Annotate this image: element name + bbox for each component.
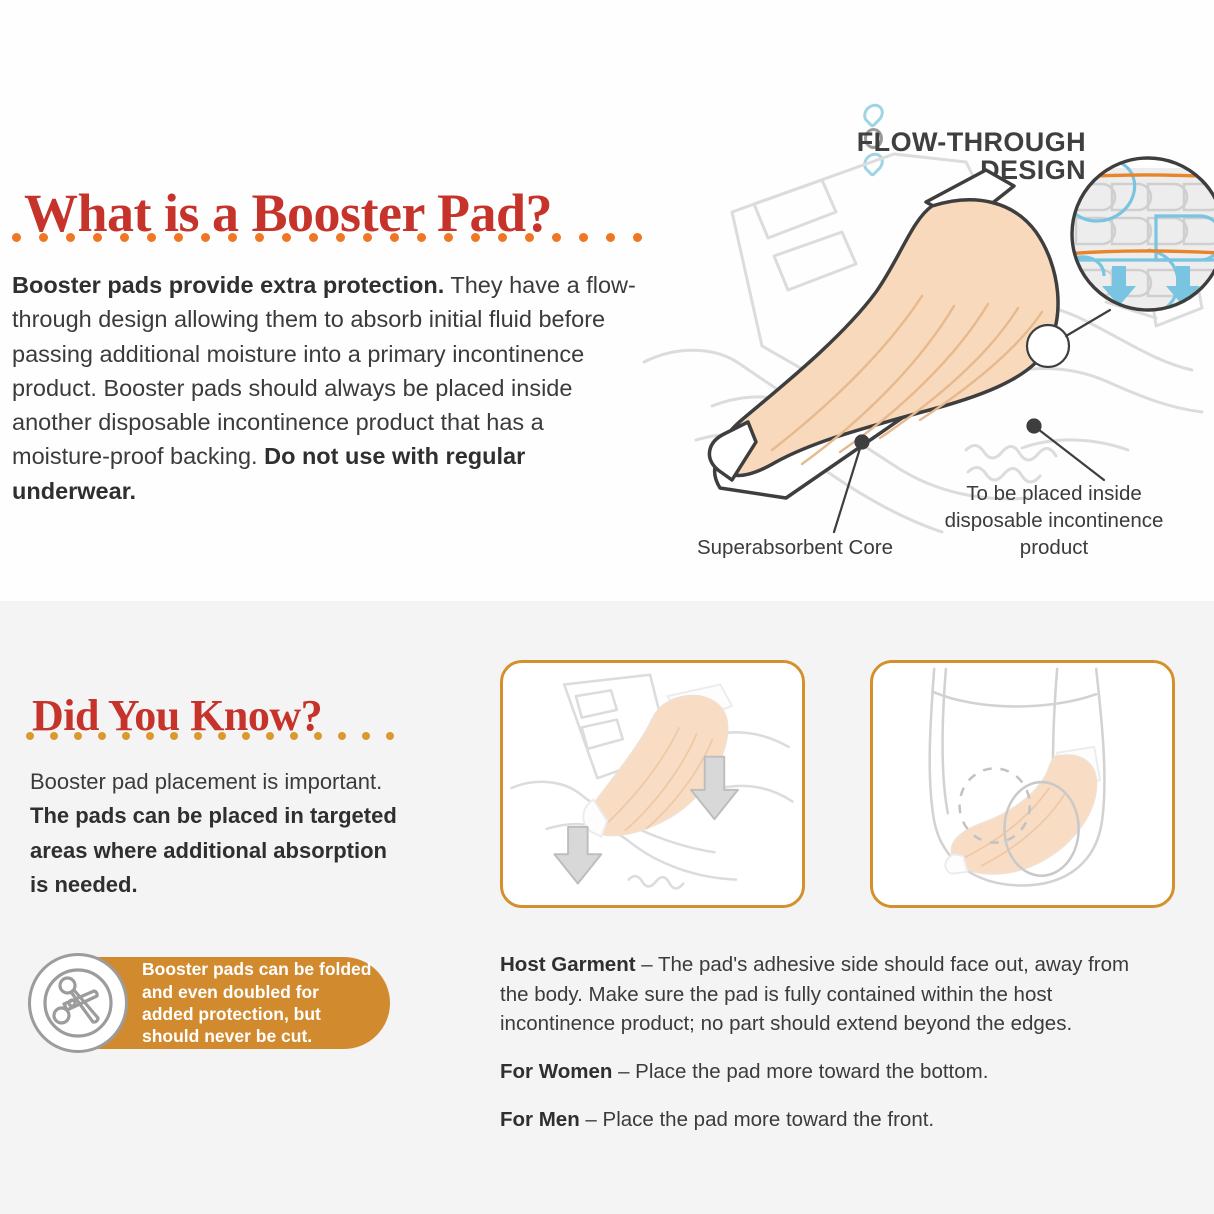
divider-dot [98, 732, 106, 740]
divider-dot [174, 233, 183, 242]
divider-dot [26, 732, 34, 740]
divider-dot [93, 233, 102, 242]
no-cutting-badge: Booster pads can be folded and even doub… [30, 957, 390, 1049]
section-what-is-a-booster-pad: What is a Booster Pad? Booster pads prov… [0, 0, 1214, 601]
divider-dot [390, 233, 399, 242]
divider-dot [122, 732, 130, 740]
divider-dot [147, 233, 156, 242]
divider-dot [201, 233, 210, 242]
divider-dot [498, 233, 507, 242]
divider-dot [120, 233, 129, 242]
instruction-dash: – [612, 1060, 635, 1083]
instruction-text: Place the pad more toward the bottom. [635, 1060, 988, 1083]
divider-dot [362, 732, 370, 740]
divider-dot [471, 233, 480, 242]
divider-dot [336, 233, 345, 242]
divider-dot [552, 233, 561, 242]
label-inside-disposable-product: To be placed inside disposable incontine… [930, 480, 1178, 561]
instruction-text: Place the pad more toward the front. [603, 1108, 935, 1131]
divider-dot [386, 732, 394, 740]
divider-dot [417, 233, 426, 242]
divider-dot [255, 233, 264, 242]
divider-dot [363, 233, 372, 242]
divider-dot [525, 233, 534, 242]
dot-divider-top [12, 231, 652, 243]
badge-text: Booster pads can be folded and even doub… [142, 958, 374, 1048]
divider-dot [606, 233, 615, 242]
droplet-icon [859, 100, 888, 129]
divider-dot [266, 732, 274, 740]
divider-dot [194, 732, 202, 740]
divider-dot [228, 233, 237, 242]
divider-dot [309, 233, 318, 242]
placement-instructions: Host Garment – The pad's adhesive side s… [500, 950, 1155, 1135]
divider-dot [314, 732, 322, 740]
divider-dot [282, 233, 291, 242]
divider-dot [66, 233, 75, 242]
intro-rest: They have a flow-through design allowing… [12, 272, 636, 469]
instruction-label: Host Garment [500, 953, 636, 976]
divider-dot [290, 732, 298, 740]
divider-dot [579, 233, 588, 242]
instruction-host-garment: Host Garment – The pad's adhesive side s… [500, 950, 1155, 1039]
placement-illustration-right [870, 660, 1175, 908]
divider-dot [218, 732, 226, 740]
placement-lead: Booster pad placement is important. [30, 769, 382, 794]
scissors-icon [41, 966, 115, 1040]
instruction-dash: – [580, 1108, 603, 1131]
intro-paragraph: Booster pads provide extra protection. T… [12, 268, 642, 508]
instruction-label: For Women [500, 1060, 612, 1083]
instruction-for-women: For Women – Place the pad more toward th… [500, 1057, 1155, 1087]
intro-lead: Booster pads provide extra protection. [12, 272, 444, 298]
divider-dot [170, 732, 178, 740]
divider-dot [242, 732, 250, 740]
infographic-page: What is a Booster Pad? Booster pads prov… [0, 0, 1214, 1214]
placement-bold: The pads can be placed in targeted areas… [30, 803, 397, 897]
divider-dot [39, 233, 48, 242]
placement-illustration-left [500, 660, 805, 908]
instruction-label: For Men [500, 1108, 580, 1131]
dot-divider-bottom [26, 730, 401, 742]
divider-dot [50, 732, 58, 740]
instruction-for-men: For Men – Place the pad more toward the … [500, 1105, 1155, 1135]
divider-dot [12, 233, 21, 242]
divider-dot [444, 233, 453, 242]
scissors-icon-container [28, 953, 128, 1053]
instruction-dash: – [636, 953, 658, 976]
label-superabsorbent-core: Superabsorbent Core [680, 534, 910, 561]
placement-paragraph: Booster pad placement is important. The … [30, 765, 402, 902]
divider-dot [146, 732, 154, 740]
divider-dot [74, 732, 82, 740]
divider-dot [338, 732, 346, 740]
